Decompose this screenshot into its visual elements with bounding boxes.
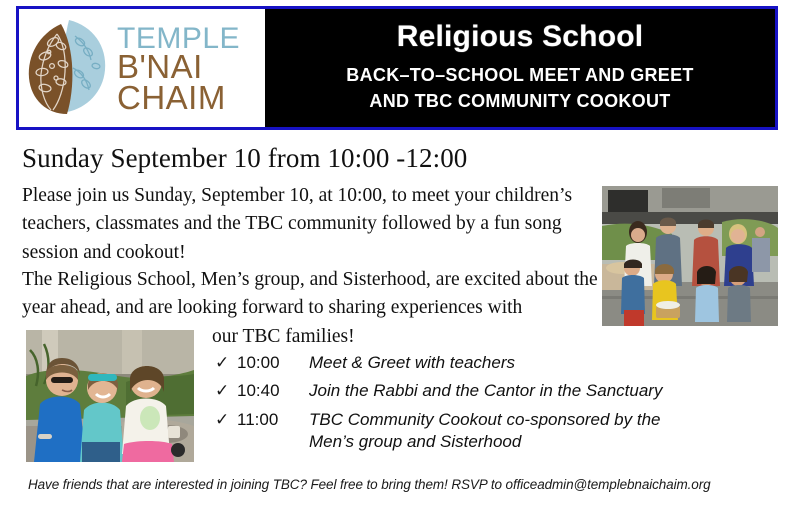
logo-wordmark: TEMPLE B'NAI CHAIM: [117, 23, 240, 113]
schedule-item-time: 10:40: [237, 380, 309, 402]
group-photo-families: [602, 186, 778, 326]
intro-paragraph: Please join us Sunday, September 10, at …: [22, 182, 590, 267]
schedule-item: ✓ 10:00 Meet & Greet with teachers: [215, 352, 662, 374]
schedule-item: ✓ 11:00 TBC Community Cookout co-sponsor…: [215, 409, 662, 454]
logo-box: TEMPLE B'NAI CHAIM: [19, 9, 265, 127]
schedule-item-description-line1: Meet & Greet with teachers: [309, 353, 515, 372]
check-icon: ✓: [215, 409, 237, 431]
schedule-item-description-line1: TBC Community Cookout co-sponsored by th…: [309, 410, 661, 429]
schedule-list: ✓ 10:00 Meet & Greet with teachers ✓ 10:…: [215, 352, 662, 460]
schedule-item: ✓ 10:40 Join the Rabbi and the Cantor in…: [215, 380, 662, 402]
banner-subtitle-line1: BACK–TO–SCHOOL MEET AND GREET: [346, 63, 693, 89]
banner-title: Religious School: [397, 20, 644, 54]
leaf-logo-icon: [23, 16, 115, 120]
banner-text-block: Religious School BACK–TO–SCHOOL MEET AND…: [265, 9, 775, 127]
page-title: Sunday September 10 from 10:00 -12:00: [22, 143, 467, 174]
schedule-item-description-line1: Join the Rabbi and the Cantor in the San…: [309, 381, 662, 400]
check-icon: ✓: [215, 380, 237, 402]
group-photo-girls: [26, 330, 194, 462]
schedule-item-description-line2: Men’s group and Sisterhood: [309, 431, 661, 453]
schedule-item-description: TBC Community Cookout co-sponsored by th…: [309, 409, 661, 454]
banner-subtitle-line2: AND TBC COMMUNITY COOKOUT: [346, 89, 693, 115]
banner-subtitle: BACK–TO–SCHOOL MEET AND GREET AND TBC CO…: [346, 63, 693, 114]
schedule-item-description: Join the Rabbi and the Cantor in the San…: [309, 380, 662, 402]
footer-rsvp-text: Have friends that are interested in join…: [28, 477, 711, 492]
check-icon: ✓: [215, 352, 237, 374]
schedule-item-description: Meet & Greet with teachers: [309, 352, 515, 374]
schedule-item-time: 10:00: [237, 352, 309, 374]
schedule-item-time: 11:00: [237, 409, 309, 431]
groups-paragraph-main: The Religious School, Men’s group, and S…: [22, 269, 598, 318]
flyer-page: TEMPLE B'NAI CHAIM Religious School BACK…: [0, 0, 800, 518]
logo-line-chaim: CHAIM: [117, 83, 240, 113]
header-banner: TEMPLE B'NAI CHAIM Religious School BACK…: [16, 6, 778, 130]
